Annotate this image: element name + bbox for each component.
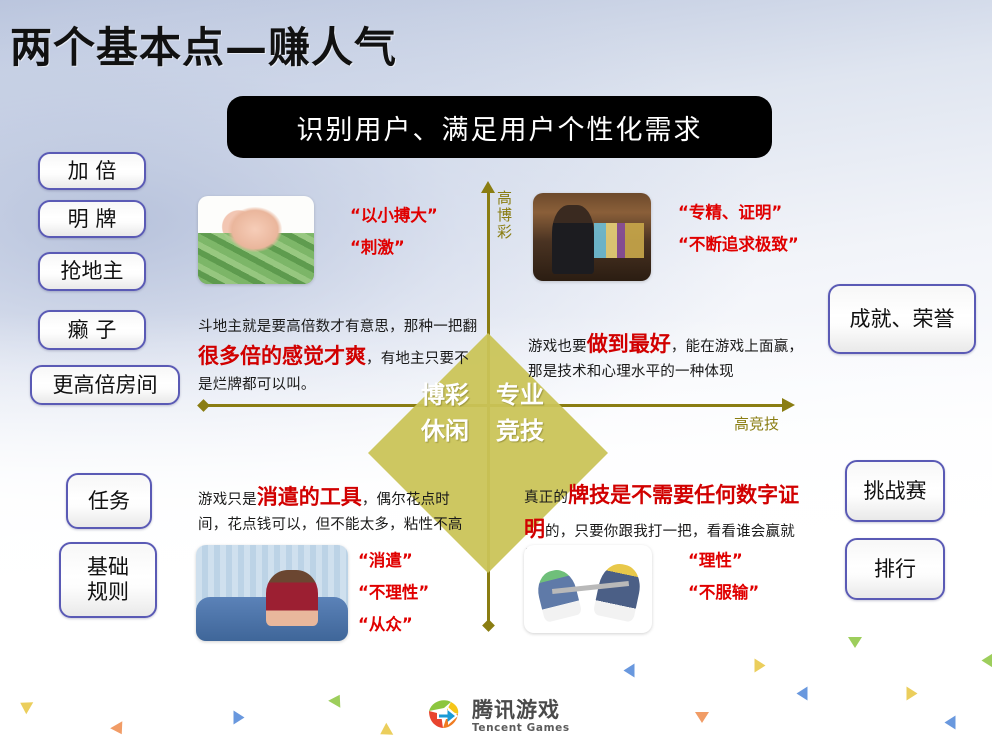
confetti-triangle-icon	[17, 697, 34, 715]
description-pre: 游戏只是	[198, 492, 257, 508]
confetti-triangle-icon	[377, 723, 394, 741]
vertical-axis-end-marker-icon	[482, 619, 495, 632]
keyword-item: “消遣”	[358, 545, 429, 577]
button-achievements-honor[interactable]: 成就、荣誉	[828, 284, 976, 354]
confetti-triangle-icon	[234, 711, 245, 725]
keyword-item: “不服输”	[688, 577, 759, 609]
tug-of-war-illustration	[524, 545, 652, 633]
keywords-top-left: “以小搏大” “刺激”	[350, 200, 438, 264]
button-high-multiplier-room[interactable]: 更高倍房间	[30, 365, 180, 405]
logo-text-chinese: 腾讯游戏	[472, 694, 570, 724]
woman-on-sofa-photo	[196, 545, 348, 641]
description-top-left: 斗地主就是要高倍数才有意思，那种一把翻很多倍的感觉才爽，有地主只要不是烂牌都可以…	[198, 316, 483, 397]
description-bottom-left: 游戏只是消遣的工具，偶尔花点时间，花点钱可以，但不能太多，粘性不高	[198, 480, 470, 538]
confetti-triangle-icon	[945, 716, 956, 730]
confetti-triangle-icon	[755, 659, 766, 673]
confetti-triangle-icon	[624, 664, 635, 678]
description-pre: 真正的	[524, 490, 568, 506]
button-double-bet[interactable]: 加 倍	[38, 152, 146, 190]
button-joker-mode[interactable]: 癞 子	[38, 310, 146, 350]
keyword-item: “从众”	[358, 609, 429, 641]
vertical-axis-arrow-icon	[481, 181, 495, 193]
keyword-item: “不理性”	[358, 577, 429, 609]
keywords-bottom-left: “消遣” “不理性” “从众”	[358, 545, 429, 642]
rope-shape	[552, 581, 629, 594]
casino-dealer-photo	[533, 193, 651, 281]
keyword-item: “刺激”	[350, 232, 438, 264]
confetti-triangle-icon	[848, 637, 862, 648]
headline-banner: 识别用户、满足用户个性化需求	[227, 96, 772, 158]
button-tasks[interactable]: 任务	[66, 473, 152, 529]
vertical-axis-label: 高博彩	[497, 190, 515, 240]
confetti-triangle-icon	[695, 712, 709, 723]
tencent-penguin-arrow-icon	[424, 694, 464, 734]
description-highlight: 很多倍的感觉才爽	[198, 344, 366, 368]
horizontal-axis-arrow-icon	[782, 398, 795, 412]
description-top-right: 游戏也要做到最好，能在游戏上面赢，那是技术和心理水平的一种体现	[528, 327, 808, 385]
headline-banner-text: 识别用户、满足用户个性化需求	[297, 108, 703, 147]
description-highlight: 做到最好	[587, 332, 671, 356]
confetti-triangle-icon	[797, 687, 808, 701]
button-grab-landlord[interactable]: 抢地主	[38, 252, 146, 291]
tencent-games-logo: 腾讯游戏 Tencent Games	[424, 694, 570, 734]
button-leaderboard[interactable]: 排行	[845, 538, 945, 600]
quadrant-label-competitive: 竞技	[496, 411, 544, 446]
confetti-triangle-icon	[982, 654, 992, 668]
quadrant-label-casual: 休闲	[421, 411, 469, 446]
pig-money-illustration	[198, 196, 314, 284]
description-pre: 斗地主就是要高倍数才有意思，那种一把翻	[198, 319, 477, 335]
description-pre: 游戏也要	[528, 339, 587, 355]
confetti-triangle-icon	[328, 691, 346, 708]
description-highlight: 消遣的工具	[257, 485, 362, 509]
button-challenge-match[interactable]: 挑战赛	[845, 460, 945, 522]
keywords-bottom-right: “理性” “不服输”	[688, 545, 759, 609]
button-open-cards[interactable]: 明 牌	[38, 200, 146, 238]
keyword-item: “以小搏大”	[350, 200, 438, 232]
confetti-triangle-icon	[907, 687, 918, 701]
confetti-triangle-icon	[110, 721, 128, 738]
keyword-item: “理性”	[688, 545, 759, 577]
button-basic-rules[interactable]: 基础 规则	[59, 542, 157, 618]
keyword-item: “专精、证明”	[678, 197, 799, 229]
horizontal-axis-end-marker-icon	[197, 399, 210, 412]
page-title: 两个基本点—赚人气	[10, 14, 397, 75]
logo-text-english: Tencent Games	[472, 722, 570, 734]
slide-canvas: 两个基本点—赚人气 识别用户、满足用户个性化需求 高博彩 高竞技 博彩 专业 休…	[0, 0, 992, 743]
horizontal-axis-label: 高竞技	[734, 413, 779, 434]
keyword-item: “不断追求极致”	[678, 229, 799, 261]
keywords-top-right: “专精、证明” “不断追求极致”	[678, 197, 799, 261]
